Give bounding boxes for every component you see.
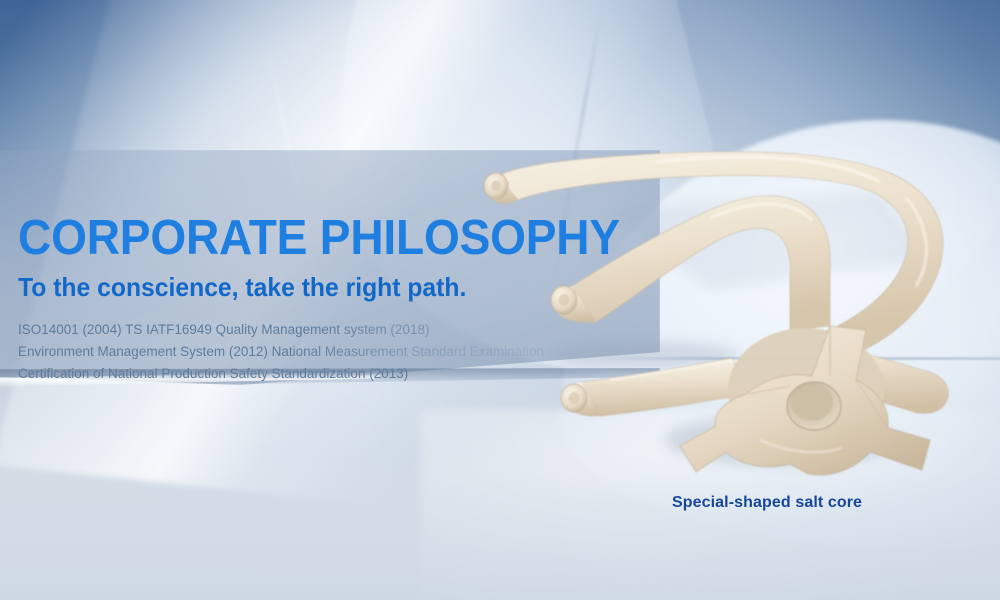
page-title: CORPORATE PHILOSOPHY (18, 212, 601, 264)
certification-item: ISO14001 (2004) TS IATF16949 Quality Man… (18, 319, 638, 341)
certification-item: Certification of National Production Saf… (18, 363, 638, 385)
background-bottom-vignette (0, 470, 1000, 600)
certification-list: ISO14001 (2004) TS IATF16949 Quality Man… (18, 319, 638, 385)
certification-item: Environment Management System (2012) Nat… (18, 341, 638, 363)
corporate-philosophy-banner: CORPORATE PHILOSOPHY To the conscience, … (0, 0, 1000, 600)
product-caption: Special-shaped salt core (672, 494, 862, 512)
banner-text-block: CORPORATE PHILOSOPHY To the conscience, … (18, 212, 638, 385)
banner-subtitle: To the conscience, take the right path. (18, 272, 607, 302)
